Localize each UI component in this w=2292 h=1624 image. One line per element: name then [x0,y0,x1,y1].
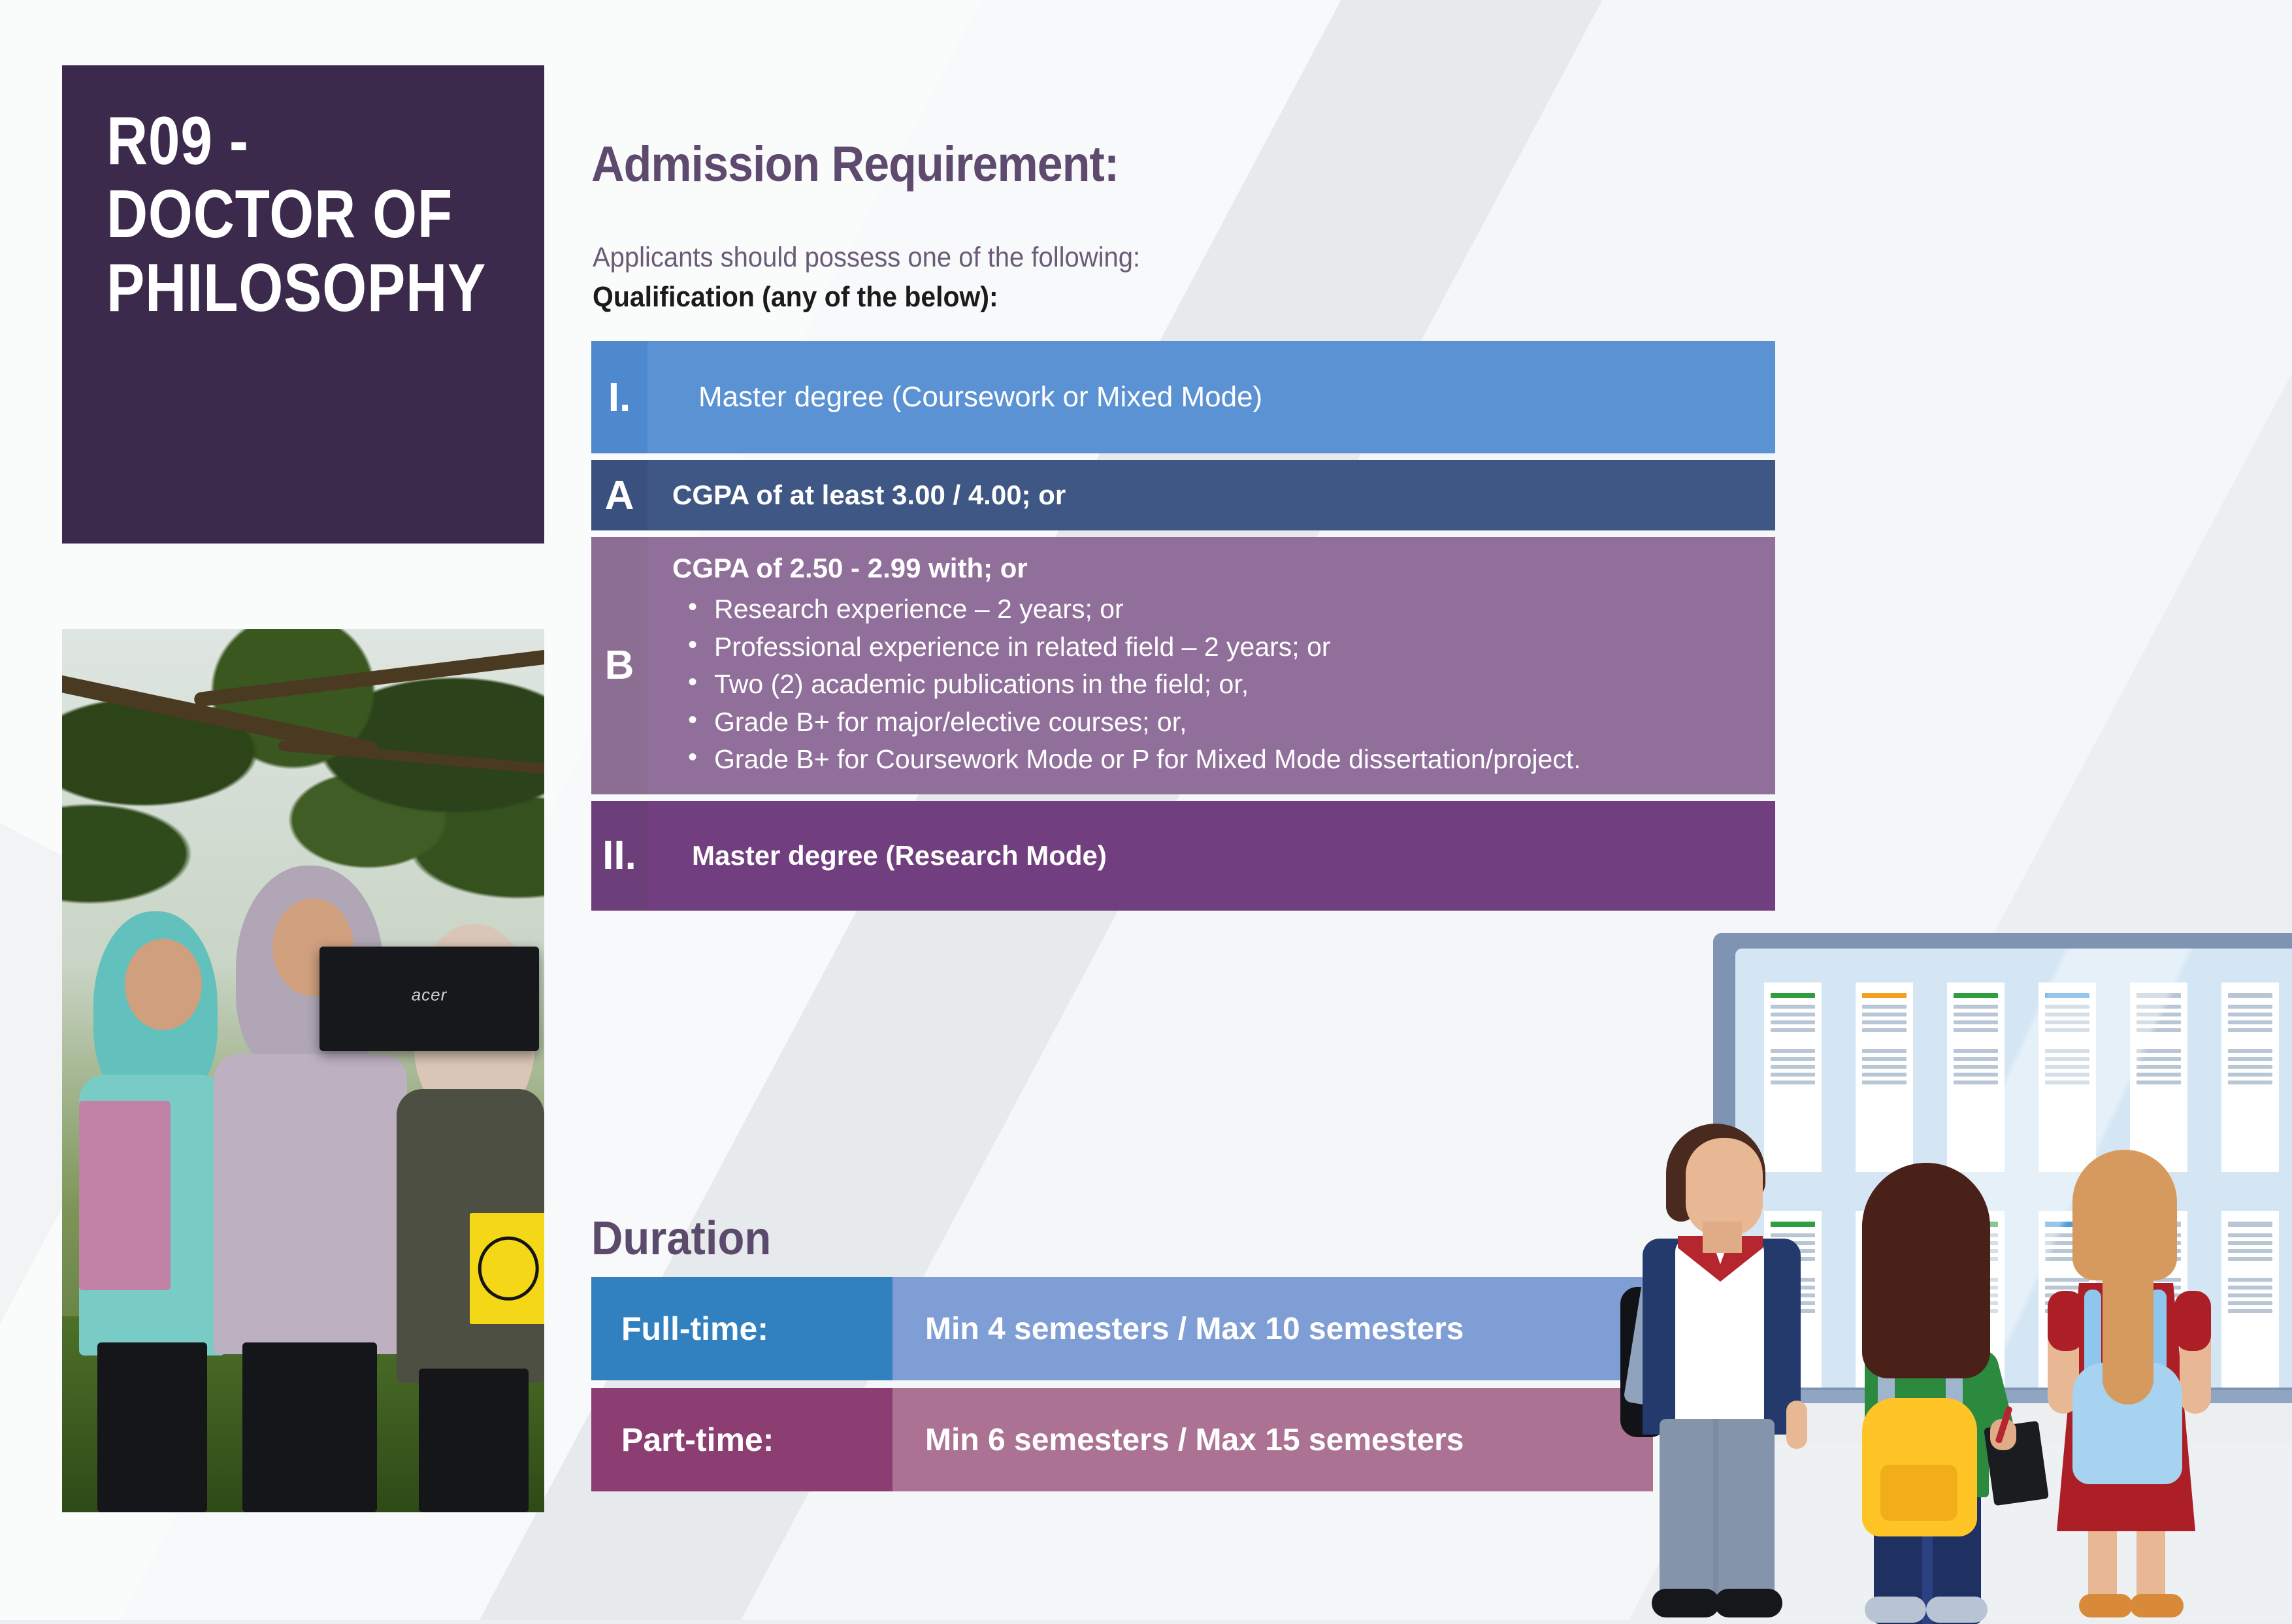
duration-value: Min 6 semesters / Max 15 semesters [892,1388,1653,1491]
noticeboard-illustration [1673,915,2292,1620]
row-text: Master degree (Coursework or Mixed Mode) [698,380,1756,415]
qualification-table: I. Master degree (Coursework or Mixed Mo… [591,341,1775,917]
row-body: Master degree (Research Mode) [647,801,1775,911]
student-figure-girl-notes [1827,1163,2036,1620]
row-text: CGPA of at least 3.00 / 4.00; or [672,478,1756,512]
program-title-card: R09 - DOCTOR OF PHILOSOPHY [62,65,544,544]
table-row: II. Master degree (Research Mode) [591,801,1775,911]
laptop-brand-label: acer [412,984,448,1005]
row-text: CGPA of 2.50 - 2.99 with; or [672,551,1756,585]
row-text: Master degree (Research Mode) [692,839,1756,872]
table-row: Full-time: Min 4 semesters / Max 10 seme… [591,1277,1653,1380]
student-figure-boy [1632,1124,1848,1620]
list-item: Two (2) academic publications in the fie… [714,667,1756,701]
list-item: Professional experience in related field… [714,630,1756,664]
student-figure-girl-dress [2022,1150,2237,1620]
students-photo: acer [62,629,544,1512]
row-label: II. [591,801,647,911]
row-label: A [591,460,647,530]
list-item: Grade B+ for major/elective courses; or, [714,705,1756,739]
row-body: Master degree (Coursework or Mixed Mode) [647,341,1775,453]
yellow-book [470,1213,544,1324]
duration-label: Part-time: [591,1388,892,1491]
admission-subline: Applicants should possess one of the fol… [593,242,1626,274]
duration-table: Full-time: Min 4 semesters / Max 10 seme… [591,1277,1653,1499]
qualification-label: Qualification (any of the below): [593,281,1626,314]
row-bullet-list: Research experience – 2 years; or Profes… [672,589,1756,779]
program-title: R09 - DOCTOR OF PHILOSOPHY [106,105,458,325]
row-label: B [591,537,647,794]
duration-title: Duration [591,1212,771,1265]
duration-label: Full-time: [591,1277,892,1380]
row-body: CGPA of at least 3.00 / 4.00; or [647,460,1775,530]
table-row: B CGPA of 2.50 - 2.99 with; or Research … [591,537,1775,794]
page-title: Admission Requirement: [591,136,1613,193]
photo-figure-center [205,768,414,1512]
table-row: Part-time: Min 6 semesters / Max 15 seme… [591,1388,1653,1491]
row-body: CGPA of 2.50 - 2.99 with; or Research ex… [647,537,1775,794]
list-item: Research experience – 2 years; or [714,592,1756,626]
photo-figure-right [397,787,544,1512]
duration-value: Min 4 semesters / Max 10 semesters [892,1277,1653,1380]
list-item: Grade B+ for Coursework Mode or P for Mi… [714,742,1756,776]
laptop: acer [319,947,539,1051]
row-label: I. [591,341,647,453]
table-row: I. Master degree (Coursework or Mixed Mo… [591,341,1775,453]
table-row: A CGPA of at least 3.00 / 4.00; or [591,460,1775,530]
